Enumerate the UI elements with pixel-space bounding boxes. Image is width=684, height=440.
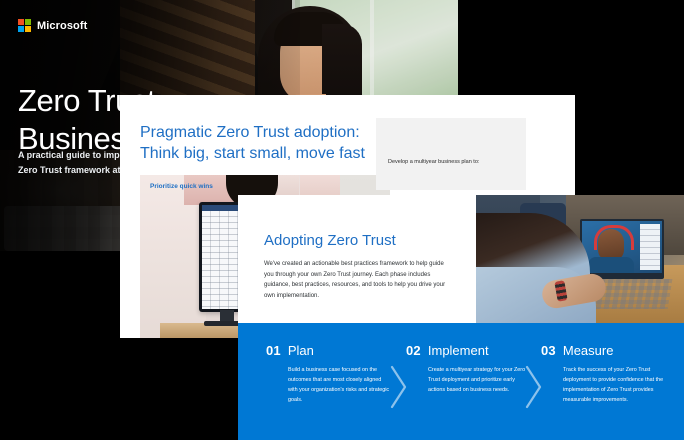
- phase-plan[interactable]: 01 Plan Build a business case focused on…: [266, 343, 390, 405]
- phase-measure-heading: 03 Measure: [541, 343, 665, 358]
- phase-implement-heading: 02 Implement: [406, 343, 530, 358]
- adopting-body-text: We've created an actionable best practic…: [264, 259, 454, 301]
- headset-icon: [594, 225, 634, 250]
- adopting-title: Adopting Zero Trust: [264, 231, 396, 251]
- video-call-torso-shape: [588, 257, 634, 273]
- adopting-zero-trust-slide[interactable]: Adopting Zero Trust We've created an act…: [238, 195, 684, 440]
- phase-measure[interactable]: 03 Measure Track the success of your Zer…: [541, 343, 665, 405]
- pragmatic-callout-text: Develop a multiyear business plan to:: [388, 158, 518, 167]
- prioritize-quick-wins-link[interactable]: Prioritize quick wins: [150, 183, 213, 190]
- phase-plan-description: Build a business case focused on the out…: [288, 365, 390, 405]
- phase-implement-description: Create a multiyear strategy for your Zer…: [428, 365, 530, 395]
- phase-measure-number: 03: [541, 343, 556, 358]
- laptop-screen-shape: [582, 221, 662, 273]
- slide-stack-canvas: Microsoft Zero Trust Business A practica…: [0, 0, 684, 440]
- pragmatic-callout-box: Develop a multiyear business plan to:: [376, 118, 526, 190]
- phase-implement-number: 02: [406, 343, 421, 358]
- adopting-text-panel: Adopting Zero Trust We've created an act…: [238, 195, 476, 323]
- laptop-shape: [580, 219, 664, 279]
- adopting-photo: [476, 195, 684, 323]
- phase-implement[interactable]: 02 Implement Create a multiyear strategy…: [406, 343, 530, 395]
- phases-blue-band: 01 Plan Build a business case focused on…: [238, 323, 684, 440]
- phase-measure-description: Track the success of your Zero Trust dep…: [563, 365, 665, 405]
- meeting-sidebar-shape: [640, 224, 660, 270]
- phase-plan-name: Plan: [288, 343, 314, 358]
- phase-implement-name: Implement: [428, 343, 489, 358]
- phase-plan-heading: 01 Plan: [266, 343, 390, 358]
- microsoft-wordmark: Microsoft: [37, 20, 87, 32]
- phase-measure-name: Measure: [563, 343, 614, 358]
- phase-plan-number: 01: [266, 343, 281, 358]
- microsoft-logo-squares-icon: [18, 19, 31, 32]
- microsoft-logo[interactable]: Microsoft: [18, 19, 87, 32]
